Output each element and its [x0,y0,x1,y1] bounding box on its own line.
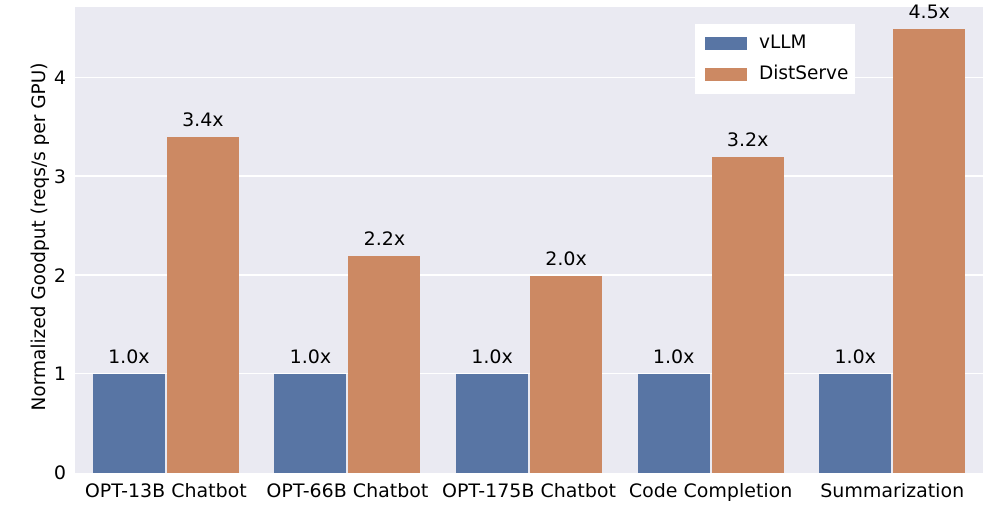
x-tick-label-1: OPT-66B Chatbot [266,480,428,502]
bar-value-label-distserve-3: 3.2x [727,129,768,151]
bar-vllm-3 [638,374,710,473]
bar-value-label-vllm-1: 1.0x [290,346,331,368]
x-tick-label-4: Summarization [820,480,964,502]
y-tick-label-1: 1 [11,363,75,385]
bar-vllm-0 [93,374,165,473]
x-tick-label-3: Code Completion [629,480,793,502]
y-tick-label-4: 4 [11,67,75,89]
legend-swatch-icon-vllm [705,37,747,50]
bar-value-label-distserve-1: 2.2x [364,228,405,250]
bar-distserve-2 [530,276,602,473]
legend-label: vLLM [759,34,807,53]
y-axis-tick-labels: 01234 [0,0,75,523]
bar-value-label-vllm-0: 1.0x [108,346,149,368]
bar-distserve-0 [167,137,239,473]
y-tick-label-2: 2 [11,265,75,287]
bar-vllm-1 [274,374,346,473]
bar-chart-figure: Normalized Goodput (reqs/s per GPU) 0123… [0,0,992,523]
legend-label: DistServe [759,65,848,84]
chart-legend: vLLMDistServe [695,24,855,94]
bar-distserve-3 [712,157,784,473]
bar-vllm-4 [819,374,891,473]
bar-vllm-2 [456,374,528,473]
legend-entry-vllm[interactable]: vLLM [705,32,845,54]
bar-value-label-vllm-4: 1.0x [834,346,875,368]
x-tick-label-2: OPT-175B Chatbot [442,480,616,502]
bar-value-label-distserve-2: 2.0x [545,248,586,270]
bar-value-label-vllm-2: 1.0x [471,346,512,368]
x-tick-label-0: OPT-13B Chatbot [85,480,247,502]
bar-distserve-4 [893,29,965,473]
y-tick-label-0: 0 [11,462,75,484]
legend-swatch-icon-distserve [705,68,747,81]
legend-entry-distserve[interactable]: DistServe [705,63,845,85]
bar-distserve-1 [348,256,420,473]
y-tick-label-3: 3 [11,166,75,188]
bar-value-label-distserve-4: 4.5x [908,1,949,23]
bar-value-label-vllm-3: 1.0x [653,346,694,368]
bar-value-label-distserve-0: 3.4x [182,109,223,131]
x-axis-tick-labels: OPT-13B ChatbotOPT-66B ChatbotOPT-175B C… [75,473,983,523]
